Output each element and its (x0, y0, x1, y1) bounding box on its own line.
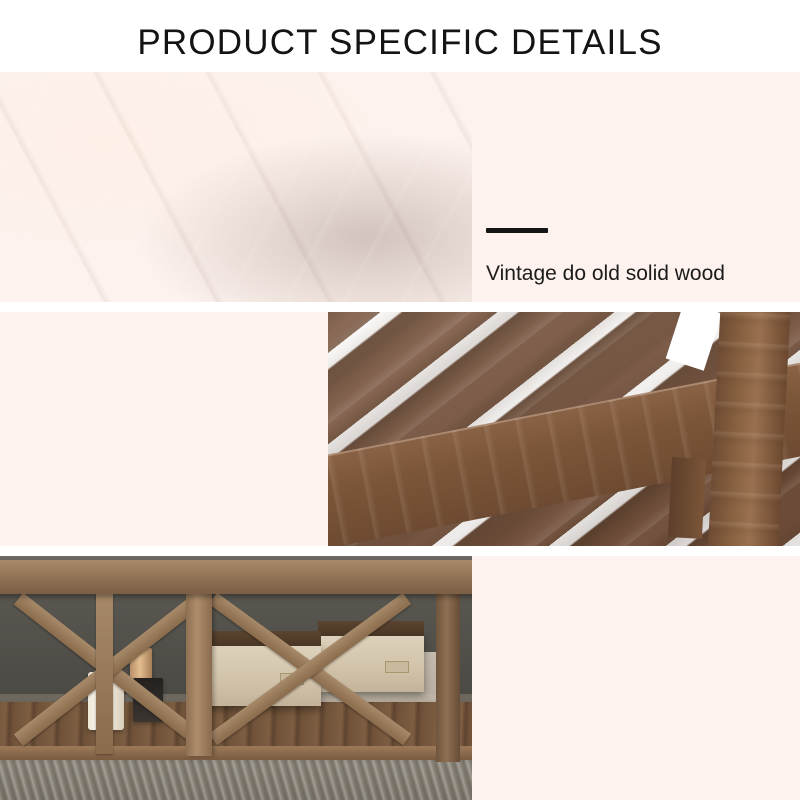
detail-section-wooden-frame: Wooden Frame (0, 312, 800, 546)
caption-rule-icon (486, 228, 548, 233)
x-brace-panel-left (10, 592, 200, 742)
product-photo-layering (0, 556, 472, 800)
brace-vertical (96, 588, 113, 754)
wood-grain-surface (0, 72, 472, 302)
caption-vintage-desktop: Vintage do old solid wood desktop (486, 228, 786, 302)
product-photo-vintage-desktop (0, 72, 472, 302)
table-leg-post (707, 312, 791, 546)
table-top (0, 560, 472, 594)
table-leg-right (436, 566, 460, 762)
table-leg-front (186, 570, 212, 756)
caption-line-1: Vintage do old solid wood (486, 251, 786, 296)
console-table-scene (0, 556, 472, 800)
x-brace-panel-right (200, 592, 400, 742)
detail-section-large-space-layering: Large space layering is practical and be… (0, 556, 800, 800)
page-title: PRODUCT SPECIFIC DETAILS (0, 22, 800, 64)
product-detail-page: PRODUCT SPECIFIC DETAILS Vintage do old … (0, 0, 800, 800)
slatted-shelf-scene (328, 312, 800, 546)
rear-leg-segment (668, 457, 706, 539)
lower-shelf-edge (0, 746, 472, 760)
product-photo-wooden-frame (328, 312, 800, 546)
detail-section-vintage-desktop: Vintage do old solid wood desktop (0, 72, 800, 302)
